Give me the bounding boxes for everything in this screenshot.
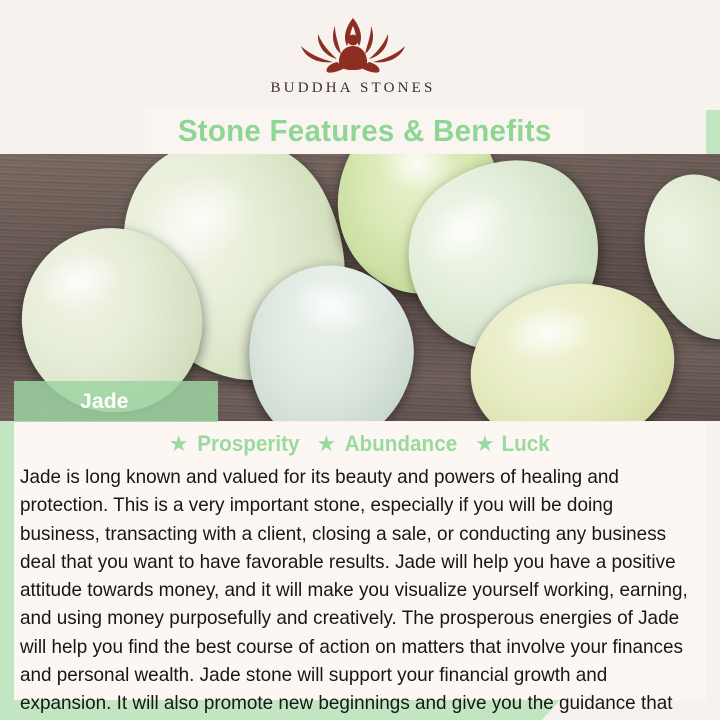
benefit-item: ★ Abundance <box>316 431 461 457</box>
brand-name: BUDDHA STONES <box>270 80 435 97</box>
title-banner: Stone Features & Benefits <box>145 108 585 154</box>
brand-logo: BUDDHA STONES <box>0 12 706 97</box>
benefit-label: Luck <box>501 431 549 457</box>
stone-description: Jade is long known and valued for its be… <box>20 464 690 720</box>
benefit-item: ★ Prosperity <box>169 431 303 457</box>
stone-benefits-poster: Jade <box>0 0 720 720</box>
photo-caption-band: Jade <box>14 381 218 422</box>
benefit-label: Abundance <box>345 431 458 457</box>
poster-header: BUDDHA STONES <box>0 0 720 110</box>
header-background: BUDDHA STONES <box>0 0 706 110</box>
page-title: Stone Features & Benefits <box>178 113 552 149</box>
lotus-meditation-icon <box>287 12 419 78</box>
benefit-item: ★ Luck <box>475 431 551 457</box>
benefit-label: Prosperity <box>197 431 299 457</box>
star-icon: ★ <box>475 433 495 455</box>
photo-caption-label: Jade <box>80 390 129 414</box>
star-icon: ★ <box>316 433 336 455</box>
benefits-list: ★ Prosperity ★ Abundance ★ Luck <box>14 422 706 457</box>
benefits-card: ★ Prosperity ★ Abundance ★ Luck Jade is … <box>14 422 706 700</box>
star-icon: ★ <box>169 433 189 455</box>
